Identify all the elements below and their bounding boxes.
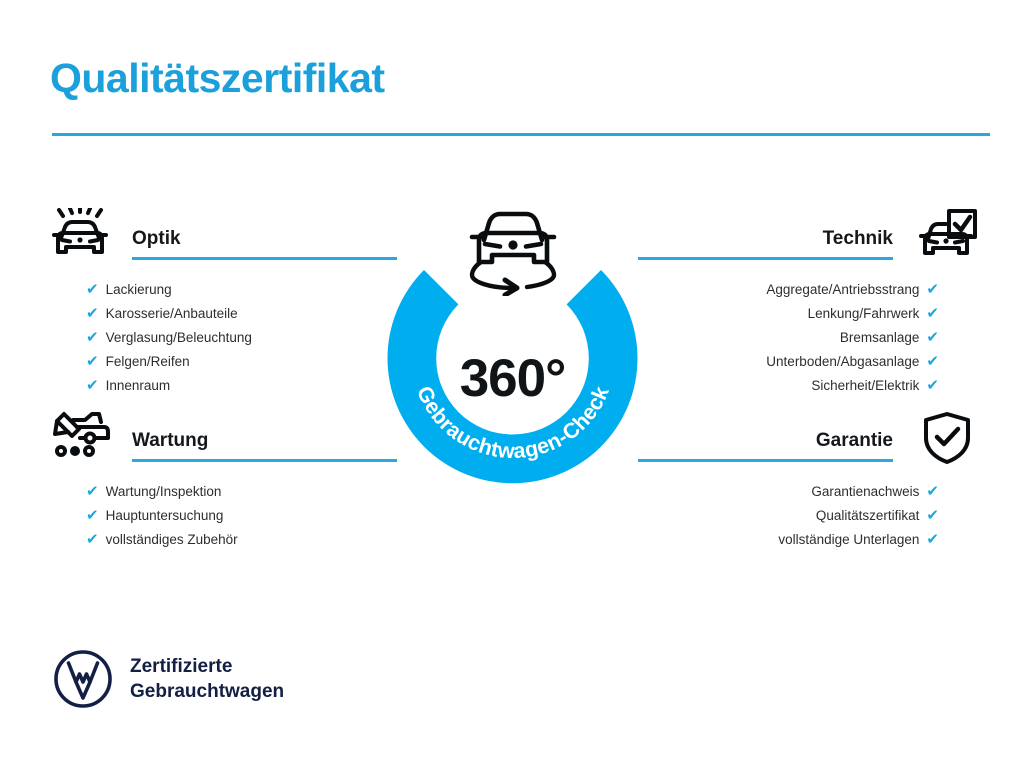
- list-item-label: vollständiges Zubehör: [106, 528, 238, 552]
- check-icon: ✔: [926, 378, 939, 393]
- list-item: ✔Lackierung: [42, 278, 397, 302]
- list-item-label: vollständige Unterlagen: [778, 528, 919, 552]
- check-icon: ✔: [926, 484, 939, 499]
- check-icon: ✔: [86, 508, 99, 523]
- check-icon: ✔: [86, 378, 99, 393]
- check-icon: ✔: [926, 354, 939, 369]
- check-icon: ✔: [926, 330, 939, 345]
- list-item-label: Lenkung/Fahrwerk: [808, 302, 920, 326]
- list-item: Bremsanlage✔: [628, 326, 983, 350]
- list-item: ✔Hauptuntersuchung: [42, 504, 397, 528]
- list-item: Lenkung/Fahrwerk✔: [628, 302, 983, 326]
- section-wartung-underline: [132, 459, 397, 462]
- check-icon: ✔: [926, 532, 939, 547]
- list-item-label: Innenraum: [106, 374, 171, 398]
- section-technik-title: Technik: [823, 228, 893, 250]
- car-rotate-360-icon: [453, 196, 573, 296]
- check-icon: ✔: [926, 282, 939, 297]
- list-item-label: Bremsanlage: [840, 326, 920, 350]
- vw-footer-line2: Gebrauchtwagen: [130, 679, 284, 704]
- list-item: Aggregate/Antriebsstrang✔: [628, 278, 983, 302]
- vw-footer-text: Zertifizierte Gebrauchtwagen: [130, 654, 284, 704]
- list-item-label: Hauptuntersuchung: [106, 504, 224, 528]
- check-icon: ✔: [926, 306, 939, 321]
- list-item-label: Lackierung: [106, 278, 172, 302]
- list-item: Unterboden/Abgasanlage✔: [628, 350, 983, 374]
- check-icon: ✔: [86, 354, 99, 369]
- vw-logo-icon: [52, 648, 114, 710]
- check-icon: ✔: [86, 532, 99, 547]
- list-item: Garantienachweis✔: [628, 480, 983, 504]
- list-item-label: Garantienachweis: [811, 480, 919, 504]
- check-icon: ✔: [926, 508, 939, 523]
- section-garantie-list: Garantienachweis✔ Qualitätszertifikat✔ v…: [628, 480, 983, 552]
- section-wartung-list: ✔Wartung/Inspektion ✔Hauptuntersuchung ✔…: [42, 480, 397, 552]
- list-item-label: Unterboden/Abgasanlage: [766, 350, 919, 374]
- list-item: ✔vollständiges Zubehör: [42, 528, 397, 552]
- section-garantie-title: Garantie: [816, 430, 893, 452]
- section-wartung: Wartung ✔Wartung/Inspektion ✔Hauptunters…: [42, 408, 397, 552]
- section-garantie-header: Garantie: [628, 408, 983, 470]
- list-item-label: Sicherheit/Elektrik: [811, 374, 919, 398]
- list-item-label: Wartung/Inspektion: [106, 480, 222, 504]
- vw-footer: Zertifizierte Gebrauchtwagen: [52, 648, 284, 710]
- vw-footer-line1: Zertifizierte: [130, 654, 284, 679]
- list-item: Qualitätszertifikat✔: [628, 504, 983, 528]
- page-title: Qualitätszertifikat: [50, 56, 385, 101]
- check-icon: ✔: [86, 282, 99, 297]
- 360-check-badge: Gebrauchtwagen-Check 360°: [371, 196, 654, 486]
- section-optik-header: Optik: [42, 206, 397, 268]
- list-item-label: Karosserie/Anbauteile: [106, 302, 238, 326]
- list-item-label: Aggregate/Antriebsstrang: [766, 278, 919, 302]
- list-item: ✔Verglasung/Beleuchtung: [42, 326, 397, 350]
- section-technik-header: Technik: [628, 206, 983, 268]
- pen-car-service-icon: [46, 408, 114, 468]
- section-wartung-title: Wartung: [132, 430, 208, 452]
- section-wartung-header: Wartung: [42, 408, 397, 470]
- section-optik-underline: [132, 257, 397, 260]
- list-item: ✔Innenraum: [42, 374, 397, 398]
- badge-value: 360°: [371, 348, 654, 409]
- list-item: ✔Karosserie/Anbauteile: [42, 302, 397, 326]
- section-technik: Technik Aggregate/Antriebsstrang✔ Lenkun…: [628, 206, 983, 398]
- section-garantie: Garantie Garantienachweis✔ Qualitätszert…: [628, 408, 983, 552]
- list-item-label: Verglasung/Beleuchtung: [106, 326, 252, 350]
- section-optik-title: Optik: [132, 228, 181, 250]
- section-technik-list: Aggregate/Antriebsstrang✔ Lenkung/Fahrwe…: [628, 278, 983, 398]
- car-checkbox-icon: [913, 206, 981, 266]
- list-item: ✔Wartung/Inspektion: [42, 480, 397, 504]
- check-icon: ✔: [86, 484, 99, 499]
- list-item: ✔Felgen/Reifen: [42, 350, 397, 374]
- check-icon: ✔: [86, 330, 99, 345]
- title-divider: [52, 133, 990, 136]
- list-item-label: Felgen/Reifen: [106, 350, 190, 374]
- certificate-page: Qualitätszertifikat Optik ✔Lackierung: [0, 0, 1024, 768]
- list-item: vollständige Unterlagen✔: [628, 528, 983, 552]
- list-item: Sicherheit/Elektrik✔: [628, 374, 983, 398]
- section-garantie-underline: [638, 459, 893, 462]
- section-optik-list: ✔Lackierung ✔Karosserie/Anbauteile ✔Verg…: [42, 278, 397, 398]
- list-item-label: Qualitätszertifikat: [816, 504, 920, 528]
- car-front-shine-icon: [46, 206, 114, 266]
- section-technik-underline: [638, 257, 893, 260]
- check-icon: ✔: [86, 306, 99, 321]
- shield-check-icon: [913, 408, 981, 468]
- section-optik: Optik ✔Lackierung ✔Karosserie/Anbauteile…: [42, 206, 397, 398]
